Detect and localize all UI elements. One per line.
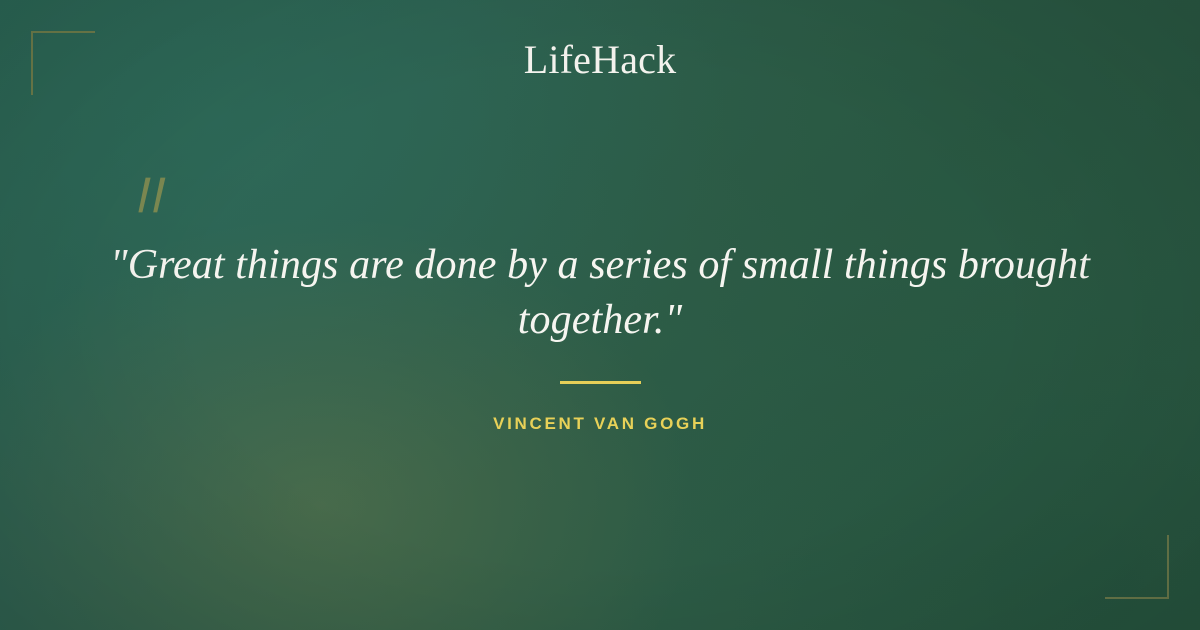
divider	[560, 381, 641, 384]
quote-line-1: "Great things are done by a series of sm…	[110, 242, 1090, 288]
quote-text: "Great things are done by a series of sm…	[100, 238, 1100, 348]
author-attribution: VINCENT VAN GOGH	[0, 414, 1200, 434]
quote-block: "Great things are done by a series of sm…	[100, 238, 1100, 348]
corner-bracket-icon-bottom-right	[1105, 535, 1169, 599]
brand-logo: LifeHack	[0, 38, 1200, 82]
quote-card: LifeHack "Great things are done by a ser…	[0, 0, 1200, 630]
quote-line-2: together."	[518, 297, 682, 343]
double-quote-icon	[131, 173, 175, 219]
